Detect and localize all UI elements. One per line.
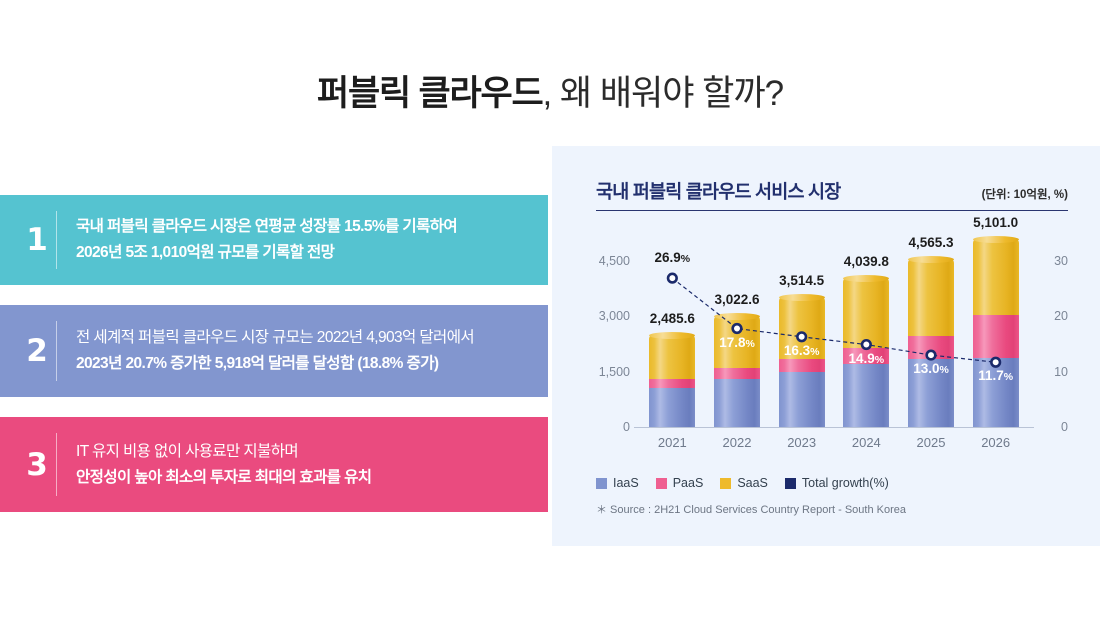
x-axis-tick-2023: 2023 <box>787 435 816 450</box>
bar-total-label-2025: 4,565.3 <box>908 235 953 250</box>
bar-top-cap <box>714 313 760 320</box>
band-line-1-2: 2026년 5조 1,010억원 규모를 기록할 전망 <box>76 240 457 266</box>
bar-segment-saas-2021[interactable] <box>649 335 695 379</box>
chart-x-axis <box>634 427 1034 428</box>
bar-segment-paas-2022[interactable] <box>714 368 760 379</box>
bar-column-2023[interactable]: 3,514.516.3%2023 <box>779 297 825 427</box>
y2-axis-tick-3: 30 <box>1040 254 1068 268</box>
bar-column-2021[interactable]: 2,485.626.9%2021 <box>649 335 695 427</box>
bar-total-label-2022: 3,022.6 <box>714 292 759 307</box>
bar-top-cap <box>779 294 825 301</box>
key-point-band-1: 1 국내 퍼블릭 클라우드 시장은 연평균 성장률 15.5%를 기록하여 20… <box>0 195 548 285</box>
y2-axis-tick-2: 20 <box>1040 309 1068 323</box>
bar-column-2022[interactable]: 3,022.617.8%2022 <box>714 316 760 428</box>
legend-label: IaaS <box>613 476 639 490</box>
growth-label-2021: 26.9% <box>655 250 691 265</box>
bar-top-cap <box>908 256 954 263</box>
band-line-3-2: 안정성이 높아 최소의 투자로 최대의 효과를 유치 <box>76 465 371 491</box>
band-line-3-1: IT 유지 비용 없이 사용료만 지불하며 <box>76 439 371 465</box>
y2-axis-tick-0: 0 <box>1040 420 1068 434</box>
legend-swatch-icon <box>720 478 731 489</box>
bar-total-label-2021: 2,485.6 <box>650 311 695 326</box>
growth-label-2023: 16.3% <box>784 343 820 358</box>
legend-item-saas[interactable]: SaaS <box>720 476 768 490</box>
x-axis-tick-2024: 2024 <box>852 435 881 450</box>
chart-header-divider <box>596 210 1068 211</box>
page-title: 퍼블릭 클라우드, 왜 배워야 할까? <box>0 72 1100 116</box>
y2-axis-tick-1: 10 <box>1040 365 1068 379</box>
key-point-band-2: 2 전 세계적 퍼블릭 클라우드 시장 규모는 2022년 4,903억 달러에… <box>0 305 548 397</box>
growth-label-2022: 17.8% <box>719 335 755 350</box>
band-text-3: IT 유지 비용 없이 사용료만 지불하며 안정성이 높아 최소의 투자로 최대… <box>57 439 383 491</box>
chart-plot-area: 01,5003,0004,500 0102030 2,485.626.9%202… <box>596 228 1068 428</box>
key-point-band-3: 3 IT 유지 비용 없이 사용료만 지불하며 안정성이 높아 최소의 투자로 … <box>0 417 548 512</box>
band-number-2: 2 <box>0 333 56 369</box>
legend-item-total-growth[interactable]: Total growth(%) <box>785 476 889 490</box>
bar-segment-iaas-2022[interactable] <box>714 379 760 427</box>
legend-item-iaas[interactable]: IaaS <box>596 476 639 490</box>
bar-column-2026[interactable]: 5,101.011.7%2026 <box>973 239 1019 427</box>
chart-legend: IaaSPaaSSaaSTotal growth(%) <box>596 476 889 490</box>
legend-swatch-icon <box>656 478 667 489</box>
bar-segment-paas-2021[interactable] <box>649 379 695 388</box>
bar-total-label-2023: 3,514.5 <box>779 273 824 288</box>
x-axis-tick-2025: 2025 <box>917 435 946 450</box>
legend-label: PaaS <box>673 476 704 490</box>
chart-bars: 2,485.626.9%20213,022.617.8%20223,514.51… <box>640 228 1028 427</box>
bar-segment-saas-2026[interactable] <box>973 239 1019 315</box>
x-axis-tick-2022: 2022 <box>723 435 752 450</box>
band-number-1: 1 <box>0 222 56 258</box>
y-axis-tick-0: 0 <box>596 420 630 434</box>
legend-label: Total growth(%) <box>802 476 889 490</box>
slide-root: 퍼블릭 클라우드, 왜 배워야 할까? 1 국내 퍼블릭 클라우드 시장은 연평… <box>0 0 1100 630</box>
x-axis-tick-2021: 2021 <box>658 435 687 450</box>
bar-total-label-2026: 5,101.0 <box>973 215 1018 230</box>
bar-segment-iaas-2023[interactable] <box>779 372 825 427</box>
y-axis-tick-2: 3,000 <box>596 309 630 323</box>
y-axis-tick-1: 1,500 <box>596 365 630 379</box>
growth-label-2024: 14.9% <box>849 351 885 366</box>
chart-unit-label: (단위: 10억원, %) <box>982 186 1068 202</box>
band-line-2-2: 2023년 20.7% 증가한 5,918억 달러를 달성함 (18.8% 증가… <box>76 351 474 377</box>
band-number-3: 3 <box>0 447 56 483</box>
legend-label: SaaS <box>737 476 768 490</box>
bar-segment-saas-2025[interactable] <box>908 259 954 336</box>
legend-swatch-icon <box>596 478 607 489</box>
chart-panel: 국내 퍼블릭 클라우드 서비스 시장 (단위: 10억원, %) 01,5003… <box>552 146 1100 546</box>
band-text-2: 전 세계적 퍼블릭 클라우드 시장 규모는 2022년 4,903억 달러에서 … <box>57 325 486 377</box>
y-axis-tick-3: 4,500 <box>596 254 630 268</box>
page-title-strong: 퍼블릭 클라우드 <box>317 74 543 113</box>
bar-segment-iaas-2021[interactable] <box>649 388 695 427</box>
band-text-1: 국내 퍼블릭 클라우드 시장은 연평균 성장률 15.5%를 기록하여 2026… <box>57 214 469 266</box>
bar-segment-paas-2025[interactable] <box>908 336 954 360</box>
x-axis-tick-2026: 2026 <box>981 435 1010 450</box>
page-title-rest: , 왜 배워야 할까? <box>542 74 783 113</box>
bar-column-2025[interactable]: 4,565.313.0%2025 <box>908 259 954 427</box>
bar-segment-paas-2023[interactable] <box>779 359 825 372</box>
chart-source-note: ＊ Source : 2H21 Cloud Services Country R… <box>596 501 906 517</box>
bar-column-2024[interactable]: 4,039.814.9%2024 <box>843 278 889 427</box>
chart-header: 국내 퍼블릭 클라우드 서비스 시장 (단위: 10억원, %) <box>596 178 1068 204</box>
growth-label-2026: 11.7% <box>978 368 1013 383</box>
legend-item-paas[interactable]: PaaS <box>656 476 704 490</box>
bar-total-label-2024: 4,039.8 <box>844 254 889 269</box>
legend-swatch-icon <box>785 478 796 489</box>
band-line-1-1: 국내 퍼블릭 클라우드 시장은 연평균 성장률 15.5%를 기록하여 <box>76 214 457 240</box>
bar-segment-saas-2024[interactable] <box>843 278 889 348</box>
band-line-2-1: 전 세계적 퍼블릭 클라우드 시장 규모는 2022년 4,903억 달러에서 <box>76 325 474 351</box>
bar-segment-iaas-2024[interactable] <box>843 364 889 427</box>
bar-top-cap <box>973 236 1019 243</box>
bar-top-cap <box>843 275 889 282</box>
bar-segment-paas-2026[interactable] <box>973 315 1019 359</box>
bar-top-cap <box>649 332 695 339</box>
growth-label-2025: 13.0% <box>913 361 949 376</box>
chart-title: 국내 퍼블릭 클라우드 서비스 시장 <box>596 178 840 204</box>
